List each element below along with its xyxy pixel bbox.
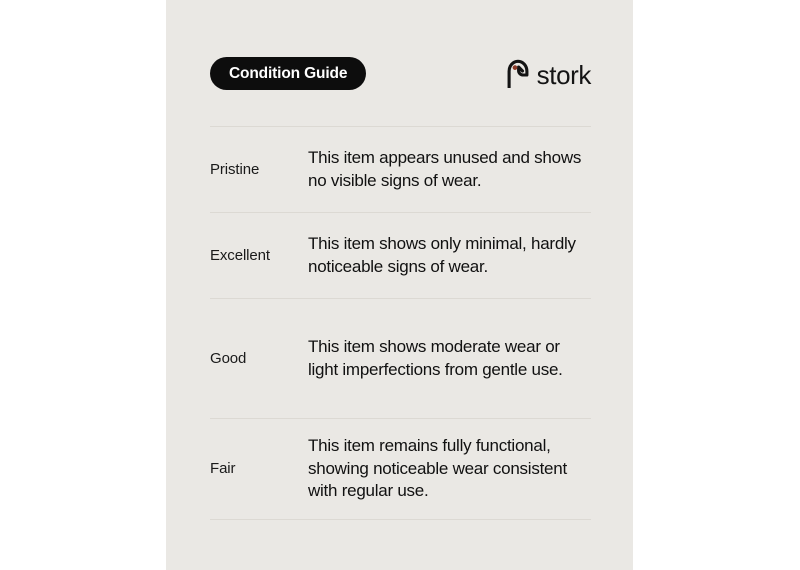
stork-arch-logo-icon — [506, 59, 530, 88]
condition-description: This item shows moderate wear or light i… — [308, 336, 591, 382]
card-header: Condition Guide stork — [210, 57, 591, 90]
condition-guide-badge: Condition Guide — [210, 57, 366, 90]
condition-guide-table: Pristine This item appears unused and sh… — [210, 126, 591, 520]
screenshot-root: Condition Guide stork Pristine This item… — [0, 0, 800, 570]
condition-label: Excellent — [210, 246, 308, 266]
table-row: Good This item shows moderate wear or li… — [210, 299, 591, 418]
row-divider — [210, 519, 591, 520]
table-row: Pristine This item appears unused and sh… — [210, 127, 591, 212]
brand-lockup: stork — [506, 57, 591, 90]
condition-label: Good — [210, 349, 308, 369]
condition-label: Fair — [210, 459, 308, 479]
condition-description: This item remains fully functional, show… — [308, 435, 591, 503]
condition-description: This item shows only minimal, hardly not… — [308, 233, 591, 279]
condition-guide-card: Condition Guide stork Pristine This item… — [166, 0, 633, 570]
condition-description: This item appears unused and shows no vi… — [308, 147, 591, 193]
brand-name: stork — [537, 62, 591, 88]
table-row: Excellent This item shows only minimal, … — [210, 213, 591, 298]
condition-label: Pristine — [210, 160, 308, 180]
table-row: Fair This item remains fully functional,… — [210, 419, 591, 519]
